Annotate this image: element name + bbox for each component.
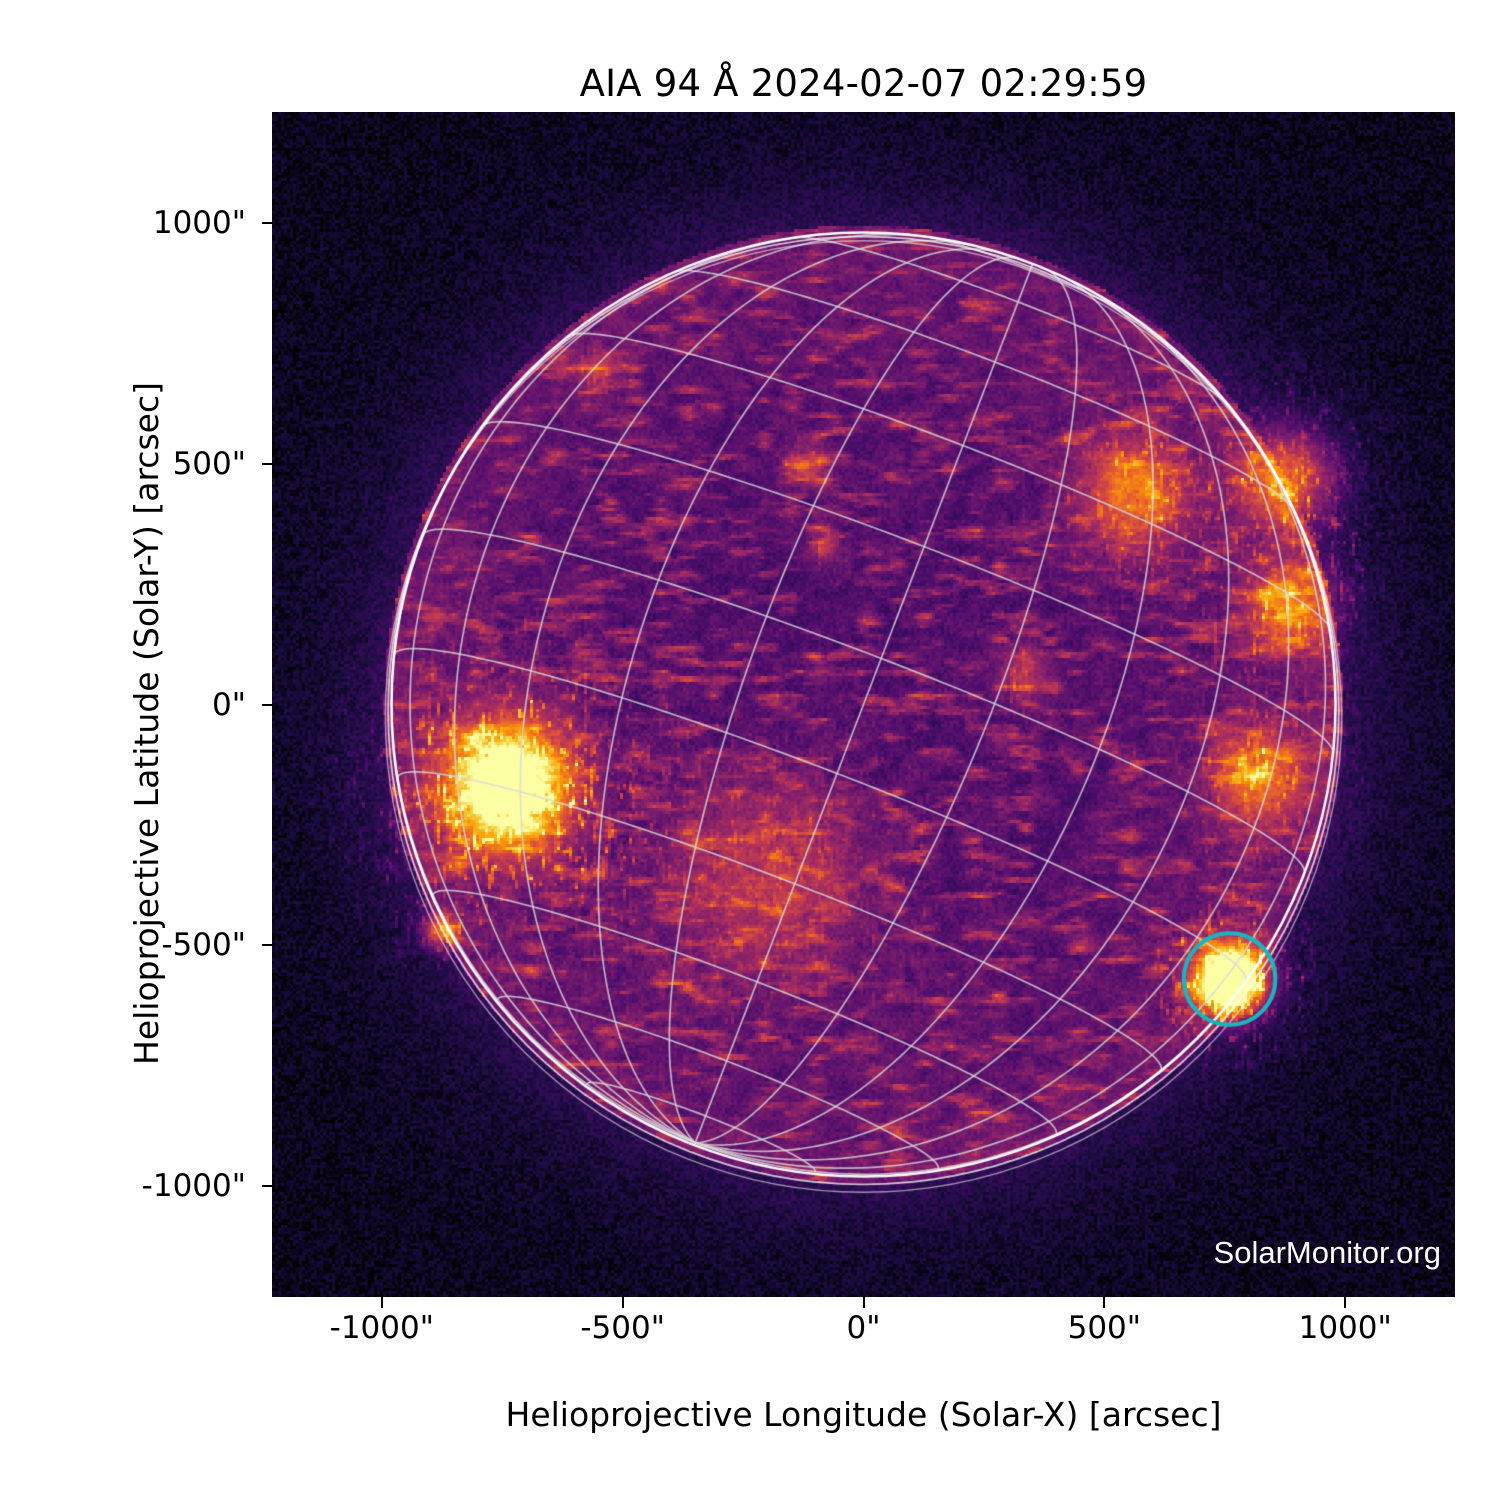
x-tick-label: 500" — [1068, 1310, 1141, 1346]
y-tick-mark — [262, 1185, 273, 1187]
y-tick-mark — [262, 463, 273, 465]
y-tick-mark — [262, 704, 273, 706]
y-axis-label: Helioprojective Latitude (Solar-Y) [arcs… — [127, 131, 166, 1316]
x-tick-mark — [381, 1297, 383, 1308]
y-tick-mark — [262, 222, 273, 224]
solar-image-figure: AIA 94 Å 2024-02-07 02:29:59 SolarMonito… — [0, 0, 1500, 1500]
y-tick-mark — [262, 944, 273, 946]
y-tick-label: 1000" — [153, 205, 246, 241]
y-tick-label: 0" — [212, 687, 246, 723]
x-tick-mark — [1103, 1297, 1105, 1308]
solar-disk-plot[interactable]: SolarMonitor.org — [272, 112, 1455, 1297]
x-tick-label: -1000" — [330, 1310, 434, 1346]
aia-94-solar-image[interactable] — [272, 112, 1455, 1297]
y-tick-label: 500" — [173, 446, 246, 482]
y-tick-label: -500" — [161, 927, 246, 963]
x-axis-label: Helioprojective Longitude (Solar-X) [arc… — [272, 1395, 1455, 1434]
x-tick-label: -500" — [580, 1310, 665, 1346]
x-tick-label: 0" — [847, 1310, 881, 1346]
x-tick-mark — [863, 1297, 865, 1308]
x-tick-mark — [1344, 1297, 1346, 1308]
x-tick-mark — [622, 1297, 624, 1308]
x-tick-label: 1000" — [1299, 1310, 1392, 1346]
page-title: AIA 94 Å 2024-02-07 02:29:59 — [272, 62, 1455, 105]
